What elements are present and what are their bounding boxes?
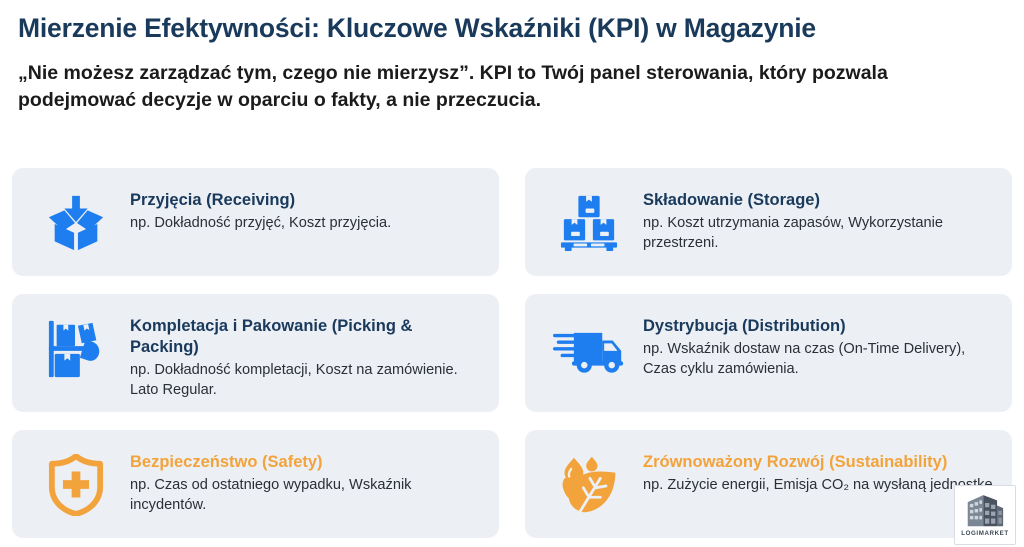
page-subtitle: „Nie możesz zarządzać tym, czego nie mie… [12, 44, 1012, 114]
card-description: np. Wskaźnik dostaw na czas (On-Time Del… [643, 340, 998, 379]
kpi-card-sustainability[interactable]: Zrównoważony Rozwój (Sustainability) np.… [525, 430, 1012, 538]
card-description: np. Dokładność przyjęć, Koszt przyjęcia. [130, 214, 485, 234]
leaf-with-droplets-icon [543, 444, 635, 526]
card-description: np. Czas od ostatniego wypadku, Wskaźnik… [130, 476, 485, 515]
logimarket-logo-badge: LOGIMARKET [954, 485, 1016, 545]
kpi-card-distribution[interactable]: Dystrybucja (Distribution) np. Wskaźnik … [525, 294, 1012, 412]
shield-with-cross-icon [30, 444, 122, 526]
card-body: Przyjęcia (Receiving) np. Dokładność prz… [130, 180, 485, 234]
office-building-icon [964, 490, 1006, 528]
card-description: np. Dokładność kompletacji, Koszt na zam… [130, 361, 485, 400]
delivery-truck-icon [543, 308, 635, 390]
card-body: Kompletacja i Pakowanie (Picking & Packi… [130, 306, 485, 400]
card-body: Dystrybucja (Distribution) np. Wskaźnik … [643, 306, 998, 379]
page-title: Mierzenie Efektywności: Kluczowe Wskaźni… [12, 0, 1012, 44]
kpi-card-receiving[interactable]: Przyjęcia (Receiving) np. Dokładność prz… [12, 168, 499, 276]
card-title: Składowanie (Storage) [643, 190, 998, 211]
card-description: np. Zużycie energii, Emisja CO₂ na wysła… [643, 476, 998, 496]
infographic-page: Mierzenie Efektywności: Kluczowe Wskaźni… [0, 0, 1024, 547]
stacked-boxes-on-pallet-icon [543, 182, 635, 264]
card-body: Składowanie (Storage) np. Koszt utrzyman… [643, 180, 998, 253]
logo-text: LOGIMARKET [961, 530, 1009, 537]
card-title: Kompletacja i Pakowanie (Picking & Packi… [130, 316, 485, 358]
card-description: np. Koszt utrzymania zapasów, Wykorzysta… [643, 214, 998, 253]
box-with-down-arrow-icon [30, 182, 122, 264]
card-title: Przyjęcia (Receiving) [130, 190, 485, 211]
kpi-card-picking-packing[interactable]: Kompletacja i Pakowanie (Picking & Packi… [12, 294, 499, 412]
card-body: Bezpieczeństwo (Safety) np. Czas od osta… [130, 442, 485, 515]
kpi-card-safety[interactable]: Bezpieczeństwo (Safety) np. Czas od osta… [12, 430, 499, 538]
card-body: Zrównoważony Rozwój (Sustainability) np.… [643, 442, 998, 496]
kpi-card-grid: Przyjęcia (Receiving) np. Dokładność prz… [12, 168, 1012, 538]
card-title: Dystrybucja (Distribution) [643, 316, 998, 337]
hand-picking-box-from-shelf-icon [30, 308, 122, 390]
card-title: Bezpieczeństwo (Safety) [130, 452, 485, 473]
kpi-card-storage[interactable]: Składowanie (Storage) np. Koszt utrzyman… [525, 168, 1012, 276]
card-title: Zrównoważony Rozwój (Sustainability) [643, 452, 998, 473]
